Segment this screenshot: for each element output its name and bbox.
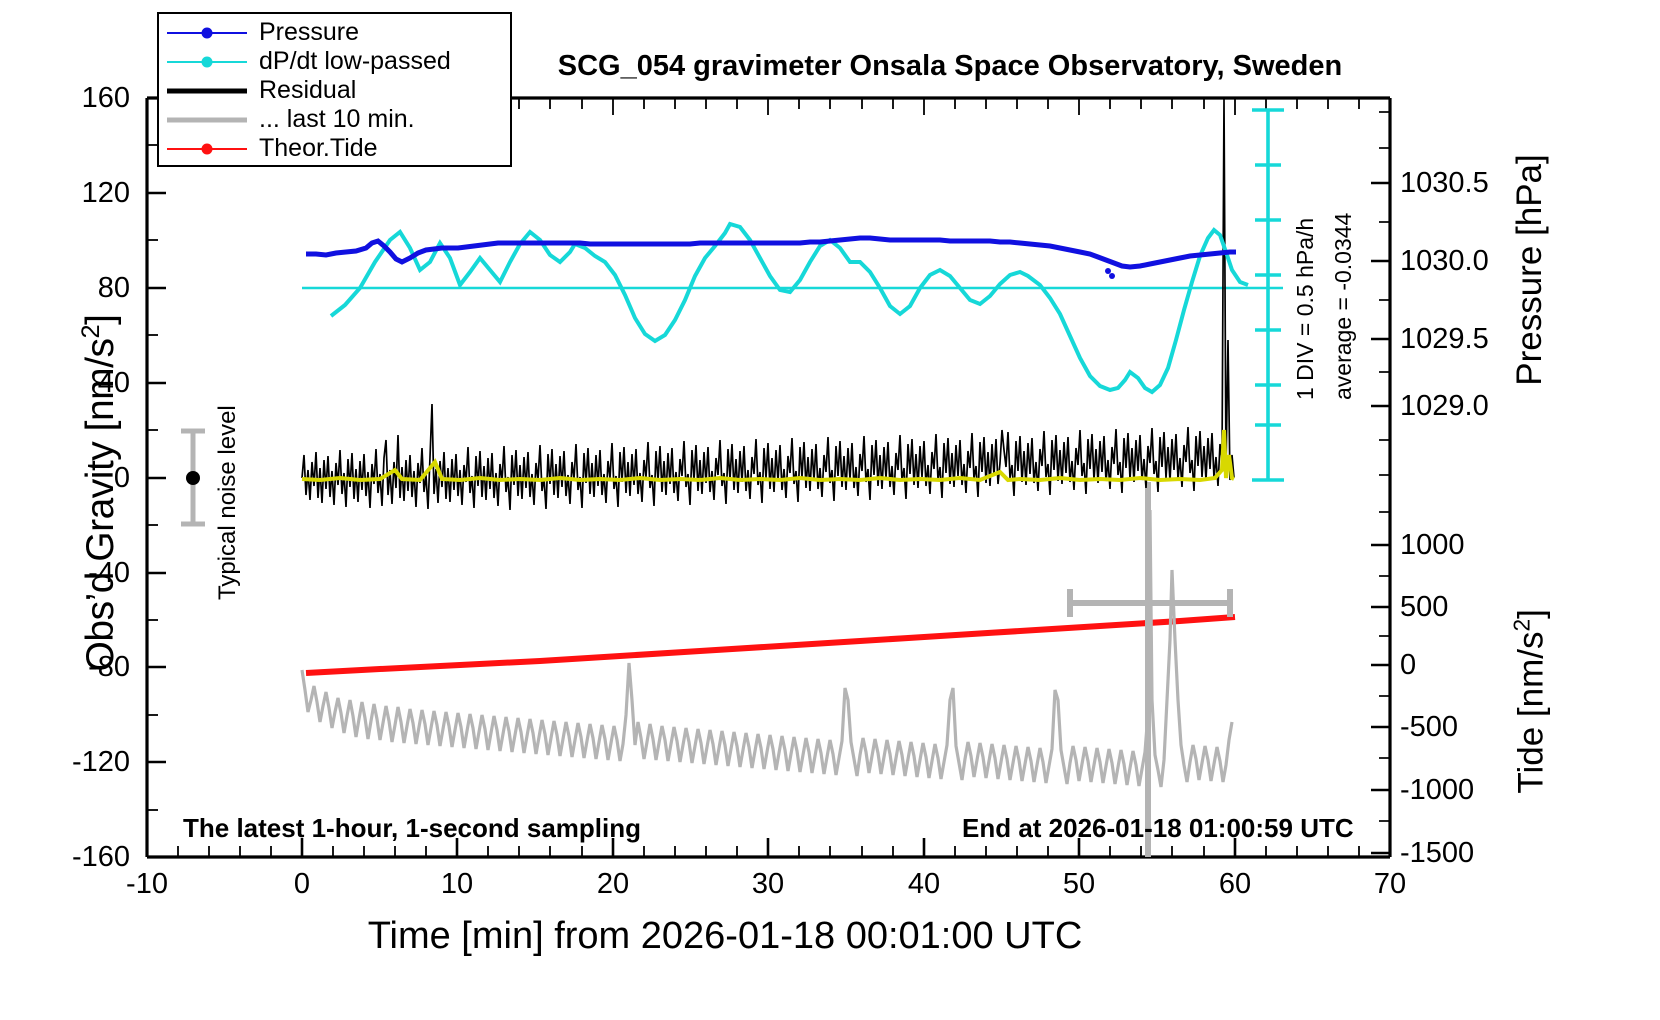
y-right-pressure-tick-1029-0: 1029.0 [1400, 390, 1489, 423]
typical-noise-marker [186, 471, 200, 485]
legend-item-dpdt[interactable]: dP/dt low-passed [165, 47, 504, 76]
y-axis-right-minor-ticks [1379, 112, 1390, 821]
y-axis-left-ticks [147, 98, 166, 857]
legend-label-residual: Residual [259, 76, 356, 105]
legend-item-theortide[interactable]: Theor.Tide [165, 134, 504, 163]
pressure-outlier-dot [1105, 268, 1111, 274]
y-axis-right-ticks [1371, 183, 1390, 853]
y-right-pressure-tick-1030-0: 1030.0 [1400, 245, 1489, 278]
legend-item-pressure[interactable]: Pressure [165, 18, 504, 47]
y-right-tide-tick-1000: 1000 [1400, 529, 1465, 562]
legend-label-pressure: Pressure [259, 18, 359, 47]
legend-item-residual[interactable]: Residual [165, 76, 504, 105]
x-axis-title: Time [min] from 2026-01-18 00:01:00 UTC [0, 915, 1450, 958]
legend-item-last10[interactable]: ... last 10 min. [165, 105, 504, 134]
x-tick-0: 0 [252, 868, 352, 901]
x-tick-20: 20 [563, 868, 663, 901]
legend: Pressure dP/dt low-passed Residual ... l… [157, 12, 512, 167]
y-axis-right-top-title: Pressure [hPa] [1510, 60, 1550, 480]
y-right-tide-tick-m1500: -1500 [1400, 837, 1474, 870]
typical-noise-level-label: Typical noise level [214, 405, 242, 600]
y-axis-right-bottom-title-post: ] [1511, 609, 1550, 619]
x-tick-m10: -10 [97, 868, 197, 901]
legend-label-theortide: Theor.Tide [259, 134, 378, 163]
y-right-pressure-tick-1029-5: 1029.5 [1400, 323, 1489, 356]
x-tick-50: 50 [1029, 868, 1129, 901]
y-right-tide-tick-m500: -500 [1400, 711, 1458, 744]
pressure-outlier-dot [1109, 273, 1115, 279]
sampling-note: The latest 1-hour, 1-second sampling [183, 813, 641, 844]
y-axis-left-title: Obs’d Gravity [nm/s2] [77, 193, 123, 793]
y-left-tick-160: 160 [20, 82, 130, 115]
average-label: average = -0.0344 [1330, 213, 1357, 400]
y-axis-left-title-text: Obs’d Gravity [nm/s [79, 339, 122, 672]
legend-key-pressure [165, 23, 249, 43]
legend-label-last10: ... last 10 min. [259, 105, 415, 134]
x-tick-60: 60 [1185, 868, 1285, 901]
y-right-tide-tick-0: 0 [1400, 649, 1416, 682]
page-title: SCG_054 gravimeter Onsala Space Observat… [520, 50, 1380, 83]
div-scale-label: 1 DIV = 0.5 hPa/h [1292, 218, 1319, 400]
y-axis-right-bottom-title-text: Tide [nm/s [1511, 631, 1550, 793]
y-axis-right-bottom-title-sup: 2 [1509, 619, 1535, 632]
end-time-note: End at 2026-01-18 01:00:59 UTC [962, 813, 1354, 844]
legend-key-last10 [165, 110, 249, 130]
legend-key-residual [165, 81, 249, 101]
x-tick-30: 30 [718, 868, 818, 901]
y-right-tide-tick-m1000: -1000 [1400, 774, 1474, 807]
legend-key-theortide [165, 139, 249, 159]
x-tick-40: 40 [874, 868, 974, 901]
x-tick-10: 10 [407, 868, 507, 901]
y-axis-left-title-post: ] [79, 315, 122, 325]
legend-key-dpdt [165, 52, 249, 72]
legend-label-dpdt: dP/dt low-passed [259, 47, 451, 76]
theor-tide-curve [306, 617, 1235, 673]
y-axis-right-bottom-title: Tide [nm/s2] [1509, 501, 1552, 901]
y-axis-left-title-sup: 2 [77, 325, 105, 339]
y-right-pressure-tick-1030-5: 1030.5 [1400, 167, 1489, 200]
dpdt-scale-bar [1252, 110, 1284, 480]
y-right-tide-tick-500: 500 [1400, 591, 1448, 624]
x-tick-70: 70 [1340, 868, 1440, 901]
